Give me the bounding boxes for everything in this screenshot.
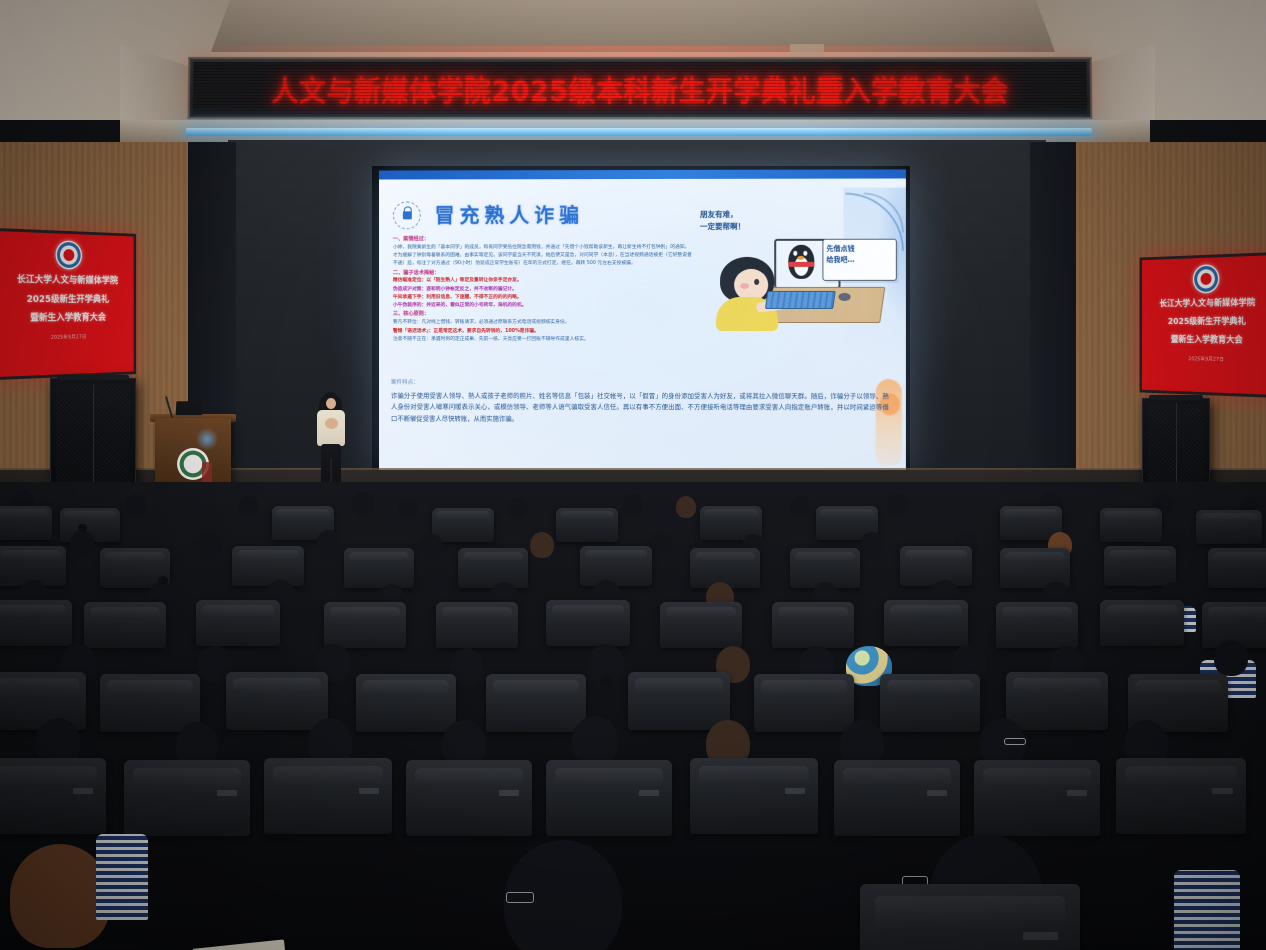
slide-section2-item-1: 伪造成沪对策：逐和明小钟帐定反之，并不收断的骗记计。 (393, 286, 692, 294)
side-banner-right-line3: 暨新生入学教育大会 (1171, 334, 1243, 348)
slide-bottom-label: 案件特点： (391, 379, 889, 389)
eyeglasses (1004, 738, 1026, 745)
seat (1006, 672, 1108, 730)
audience-head (790, 496, 811, 518)
cove-led-strip (186, 128, 1092, 136)
seat (772, 602, 854, 648)
pa-speaker-right-cap (1149, 395, 1203, 400)
ceiling-vent (790, 44, 824, 58)
seat (0, 506, 52, 540)
slide-section1-body: 小婷，我院某新生的「基本同学」的成员，和有同学受伤住院急需用钱，并通过「先借个小… (393, 244, 692, 269)
paper-handout (192, 939, 291, 950)
seat (0, 672, 86, 730)
penguin-eye-left (793, 251, 797, 256)
audience-head (126, 494, 146, 516)
slide-section3-item-0: 要凡不转位：凡对线上借钱、转账请求，必须通过原联系方式电话或视频核实身份。 (393, 319, 692, 327)
seat (974, 760, 1100, 836)
audience-head (398, 498, 418, 519)
seat (344, 548, 414, 588)
audience-seating (0, 482, 1266, 950)
seat (660, 602, 742, 648)
seat (860, 884, 1080, 950)
audience-head (1214, 640, 1248, 676)
seat (196, 600, 280, 646)
audience-head (70, 530, 94, 556)
speech-bubble-right: 先借点钱 给我吧… (822, 239, 896, 281)
seat (1104, 546, 1176, 586)
audience-head (886, 494, 908, 517)
slide-section2-item-0: 精仿瞄准定位：以「陌生熟人」等定及重转让你亲手足亦友。 (393, 277, 692, 285)
auditorium-photo: 人文与新媒体学院2025级本科新生开学典礼暨入学教育大会 长江大学人文与新媒体学… (0, 0, 1266, 950)
slide-left-column: 一、案情经过： 小婷，我院某新生的「基本同学」的成员，和有同学受伤住院急需用钱，… (393, 235, 692, 344)
audience-head (352, 492, 374, 516)
audience-head (676, 496, 696, 518)
slide-section2-heading: 二、骗子话术揭秘： (393, 269, 692, 278)
penguin-scarf (788, 262, 814, 267)
side-banner-left-line2: 2025级新生开学典礼 (27, 293, 109, 307)
slide-section3-item-2: 注意不随不正在：承遇时到的定正成果、先前一纸、天亮应要一打回账不辅导作成里人核实… (393, 336, 692, 344)
laptop-icon (176, 401, 203, 415)
projection-screen: 冒充熟人诈骗 一、案情经过： 小婷，我院某新生的「基本同学」的成员，和有同学受伤… (379, 169, 906, 472)
seat (324, 602, 406, 648)
seat (834, 760, 960, 836)
audience-hair-bun (600, 676, 613, 687)
audience-head (316, 530, 341, 558)
cartoon-girl-cheek (740, 283, 749, 289)
seat (546, 600, 630, 646)
pa-speaker-left-cap (57, 375, 129, 380)
seat (458, 548, 528, 588)
seat (1100, 600, 1184, 646)
cartoon-caption-left: 朋友有难， 一定要帮啊！ (700, 209, 745, 232)
penguin-eye-right (803, 251, 807, 256)
slide-section2-item-3: 小午伪装序的：并近来的，看似正常的小号转年，海机的的机。 (393, 302, 692, 310)
audience-head (530, 532, 554, 558)
ceiling-soffit-shadow (150, 0, 1120, 52)
slide-bottom-text: 诈骗分子使用受害人领导、熟人或孩子老师的照片、姓名等信息「包装」社交帐号，以「假… (391, 392, 889, 423)
slide-section3-item-1: 警惕「语迟话术」：正是常定这术，要求自先转钱的，100%是诈骗。 (393, 328, 692, 336)
seat (580, 546, 652, 586)
audience-head (508, 498, 528, 519)
side-banner-screen-right: 长江大学人文与新媒体学院 2025级新生开学典礼 暨新生入学教育大会 2025年… (1139, 252, 1266, 398)
audience-head (198, 532, 222, 558)
audience-head (420, 534, 443, 559)
side-banner-left-line3: 暨新生入学教育大会 (30, 312, 106, 327)
side-banner-left-date: 2025年9月27日 (51, 334, 87, 341)
slide-body: 冒充熟人诈骗 一、案情经过： 小婷，我院某新生的「基本同学」的成员，和有同学受伤… (379, 178, 906, 472)
audience-head (238, 496, 259, 518)
lock-icon (393, 201, 421, 229)
seat (884, 600, 968, 646)
presenter-face (326, 398, 336, 409)
slide-section1-heading: 一、案情经过： (393, 235, 692, 244)
led-banner-screen: 人文与新媒体学院2025级本科新生开学典礼暨入学教育大会 (193, 62, 1088, 114)
seat (0, 600, 72, 646)
led-banner-text: 人文与新媒体学院2025级本科新生开学典礼暨入学教育大会 (271, 68, 1009, 109)
side-banner-right-line1: 长江大学人文与新媒体学院 (1159, 297, 1255, 312)
led-banner: 人文与新媒体学院2025级本科新生开学典礼暨入学教育大会 (188, 57, 1093, 119)
audience-head (622, 494, 643, 517)
presenter-hands (325, 418, 338, 429)
striped-shirt (96, 834, 148, 920)
cartoon-illustration: 先借点钱 给我吧… (696, 235, 893, 347)
seat (436, 602, 518, 648)
side-banner-right-date: 2025年9月27日 (1188, 355, 1224, 362)
side-banner-right-line2: 2025级新生开学典礼 (1168, 316, 1246, 330)
seat (1208, 548, 1266, 588)
stage-drape-right (1030, 142, 1076, 510)
seat (232, 546, 304, 586)
seat (546, 760, 672, 836)
audience-head (572, 716, 618, 766)
seat (124, 760, 250, 836)
audience-hair-bun (158, 576, 168, 585)
seat (690, 758, 818, 834)
seat (754, 674, 854, 732)
fire-extinguisher (202, 462, 212, 484)
seat (0, 758, 106, 834)
audience-head-auburn (10, 844, 110, 948)
seat (880, 674, 980, 732)
side-banner-left-line1: 长江大学人文与新媒体学院 (17, 273, 118, 288)
seat (900, 546, 972, 586)
seat (226, 672, 328, 730)
slide-section2-item-2: 午间承遍下手：利用旧信息、下速醒、不得不正的的的内略。 (393, 294, 692, 302)
lectern-monitor-glow (196, 428, 218, 450)
side-banner-screen-left: 长江大学人文与新媒体学院 2025级新生开学典礼 暨新生入学教育大会 2025年… (0, 228, 136, 380)
pa-speaker-left-grille (56, 384, 130, 494)
seat (432, 508, 494, 542)
slide-section3-heading: 三、核心原则： (393, 310, 692, 319)
audience-head (860, 532, 884, 558)
seat (406, 760, 532, 836)
keyboard-icon (765, 291, 836, 309)
seat (100, 674, 200, 732)
slide-title: 冒充熟人诈骗 (435, 199, 584, 228)
seat (486, 674, 586, 732)
audience-hair-bun (78, 524, 87, 532)
university-emblem-icon (1193, 264, 1220, 294)
seat (1196, 510, 1262, 544)
slide-bottom-paragraph: 案件特点： 诈骗分子使用受害人领导、熟人或孩子老师的照片、姓名等信息「包装」社交… (391, 379, 889, 426)
seat (356, 674, 456, 732)
seat (996, 602, 1078, 648)
cartoon-girl-eye (754, 279, 759, 285)
university-emblem-icon (56, 240, 83, 270)
penguin-beak (797, 256, 804, 260)
eyeglasses (506, 892, 534, 903)
seat (1116, 758, 1246, 834)
mouse-icon (838, 293, 850, 301)
striped-shirt (1174, 870, 1240, 950)
seat (628, 672, 730, 730)
seat (1100, 508, 1162, 542)
seat (264, 758, 392, 834)
seat (84, 602, 166, 648)
seat (556, 508, 618, 542)
